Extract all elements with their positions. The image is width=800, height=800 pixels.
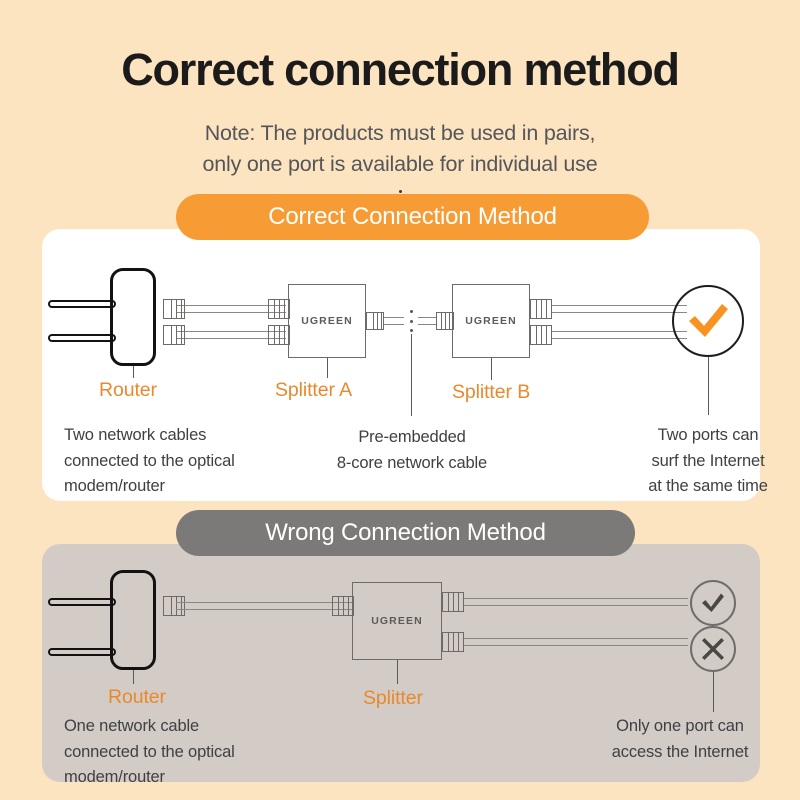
decorative-dot [399,190,402,193]
caption-correct-left: Two network cables connected to the opti… [64,423,294,500]
cable-splitter-b-to-check-bottom [552,331,687,339]
correct-method-banner: Correct Connection Method [176,194,649,240]
rj45-connector-splitter-out-bottom-wrong [442,632,464,652]
caption-wrong-right: Only one port can access the Internet [580,714,780,765]
page-title: Correct connection method [0,46,800,95]
rj45-connector-splitter-a-out [366,312,384,330]
rj45-connector-splitter-out-top-wrong [442,592,464,612]
wrong-status-badge-check [690,580,736,626]
cable-break-dots [409,310,413,332]
caption-correct-right-l1: Two ports can [598,423,800,449]
router-prong-top-wrong [48,598,116,606]
router-prong-top [48,300,116,308]
router-device-wrong [110,570,156,670]
caption-wrong-right-l2: access the Internet [580,740,780,766]
caption-wrong-left: One network cable connected to the optic… [64,714,304,791]
splitter-b-device: UGREEN [452,284,530,358]
leader-router-wrong [133,670,134,684]
caption-correct-right-l3: at the same time [598,474,800,500]
splitter-brand-wrong: UGREEN [371,615,423,627]
caption-wrong-left-l3: modem/router [64,765,304,791]
label-router-correct: Router [99,379,157,402]
splitter-a-brand: UGREEN [301,315,353,327]
caption-wrong-right-l1: Only one port can [580,714,780,740]
correct-status-badge [672,285,744,357]
page-note: Note: The products must be used in pairs… [0,118,800,179]
rj45-connector-splitter-a-in-bottom [268,325,290,345]
leader-router [133,366,134,378]
cable-splitter-b-in [418,317,436,325]
router-device [110,268,156,366]
leader-check [708,357,709,415]
caption-correct-left-l3: modem/router [64,474,294,500]
rj45-connector-splitter-a-in-top [268,299,290,319]
check-icon [700,592,726,614]
router-prong-bottom [48,334,116,342]
check-icon [685,301,731,341]
leader-splitter-b [491,358,492,380]
rj45-connector-router-bottom [163,325,185,345]
caption-wrong-left-l2: connected to the optical [64,740,304,766]
cable-splitter-b-to-check-top [552,305,687,313]
cable-router-to-splitter-wrong [176,602,352,610]
leader-cable-note [411,334,412,416]
splitter-device-wrong: UGREEN [352,582,442,660]
caption-correct-left-l2: connected to the optical [64,449,294,475]
caption-correct-right: Two ports can surf the Internet at the s… [598,423,800,500]
page-note-line-2: only one port is available for individua… [0,149,800,180]
label-router-wrong: Router [108,686,166,709]
cable-splitter-to-cross-wrong [464,638,688,646]
rj45-connector-splitter-in-wrong [332,596,354,616]
page-note-line-1: Note: The products must be used in pairs… [0,118,800,149]
caption-correct-middle-l1: Pre-embedded [306,425,518,451]
label-splitter-a: Splitter A [275,379,352,402]
cable-splitter-to-check-wrong [464,598,688,606]
cable-splitter-a-out [384,317,404,325]
rj45-connector-splitter-b-out-top [530,299,552,319]
caption-correct-left-l1: Two network cables [64,423,294,449]
splitter-b-brand: UGREEN [465,315,517,327]
leader-splitter-a [327,358,328,378]
rj45-connector-router-top [163,299,185,319]
wrong-method-banner: Wrong Connection Method [176,510,635,556]
infographic-page: Correct connection method Note: The prod… [0,0,800,800]
caption-correct-right-l2: surf the Internet [598,449,800,475]
caption-correct-middle: Pre-embedded 8-core network cable [306,425,518,476]
router-prong-bottom-wrong [48,648,116,656]
caption-wrong-left-l1: One network cable [64,714,304,740]
label-splitter-wrong: Splitter [363,687,423,710]
leader-cross-wrong [713,672,714,712]
caption-correct-middle-l2: 8-core network cable [306,451,518,477]
rj45-connector-splitter-b-out-bottom [530,325,552,345]
leader-splitter-wrong [397,660,398,684]
splitter-a-device: UGREEN [288,284,366,358]
cross-icon [701,637,725,661]
label-splitter-b: Splitter B [452,381,530,404]
wrong-status-badge-cross [690,626,736,672]
